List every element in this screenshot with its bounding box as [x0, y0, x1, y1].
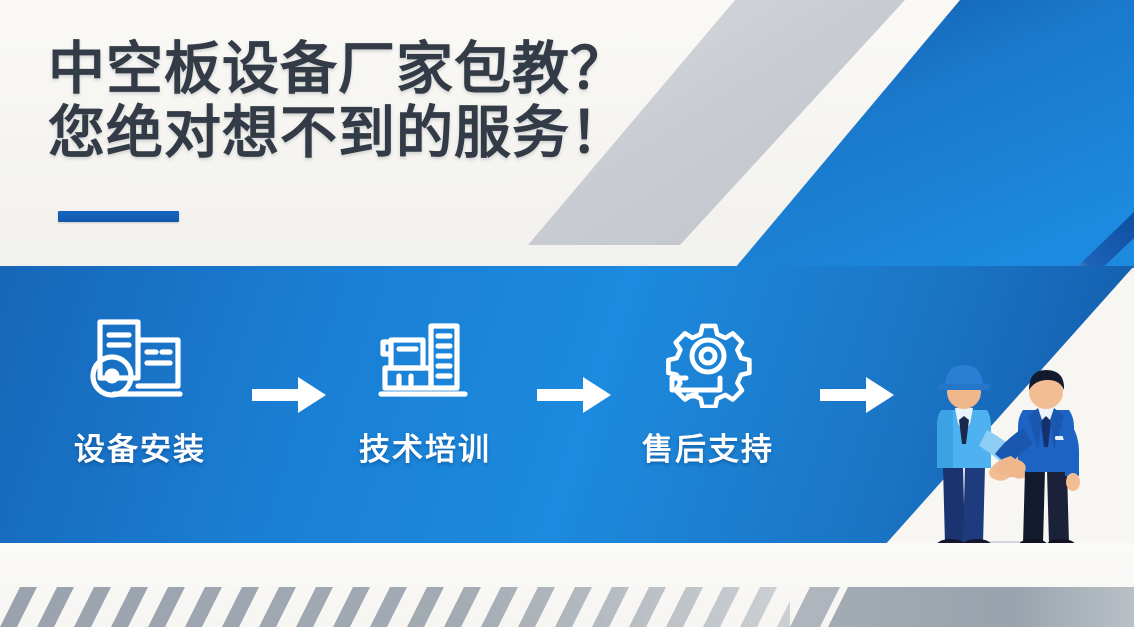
handshake-illustration — [895, 358, 1110, 570]
diagonal-hatch-stripes — [0, 587, 1134, 627]
accent-underline-bar — [58, 211, 179, 222]
arrow-right-icon — [537, 377, 611, 413]
page-title: 中空板设备厂家包教？ 您绝对想不到的服务！ — [48, 38, 668, 166]
process-step-label: 技术培训 — [325, 424, 525, 469]
gear-support-icon — [608, 316, 808, 408]
arrow-right-icon — [252, 377, 326, 413]
headline-line-1: 中空板设备厂家包教？ — [48, 37, 628, 101]
headline-line-2: 您绝对想不到的服务！ — [48, 102, 668, 166]
factory-machine-icon — [325, 316, 525, 408]
server-install-icon — [40, 316, 240, 408]
process-step-label: 设备安装 — [40, 424, 240, 469]
arrow-right-icon — [820, 377, 894, 413]
process-step-technical-training[interactable]: 技术培训 — [325, 316, 525, 469]
process-step-equipment-install[interactable]: 设备安装 — [40, 316, 240, 469]
banner-canvas: 中空板设备厂家包教？ 您绝对想不到的服务！ 设备安装 — [0, 0, 1134, 627]
process-step-after-sales-support[interactable]: 售后支持 — [608, 316, 808, 469]
process-step-label: 售后支持 — [608, 424, 808, 469]
